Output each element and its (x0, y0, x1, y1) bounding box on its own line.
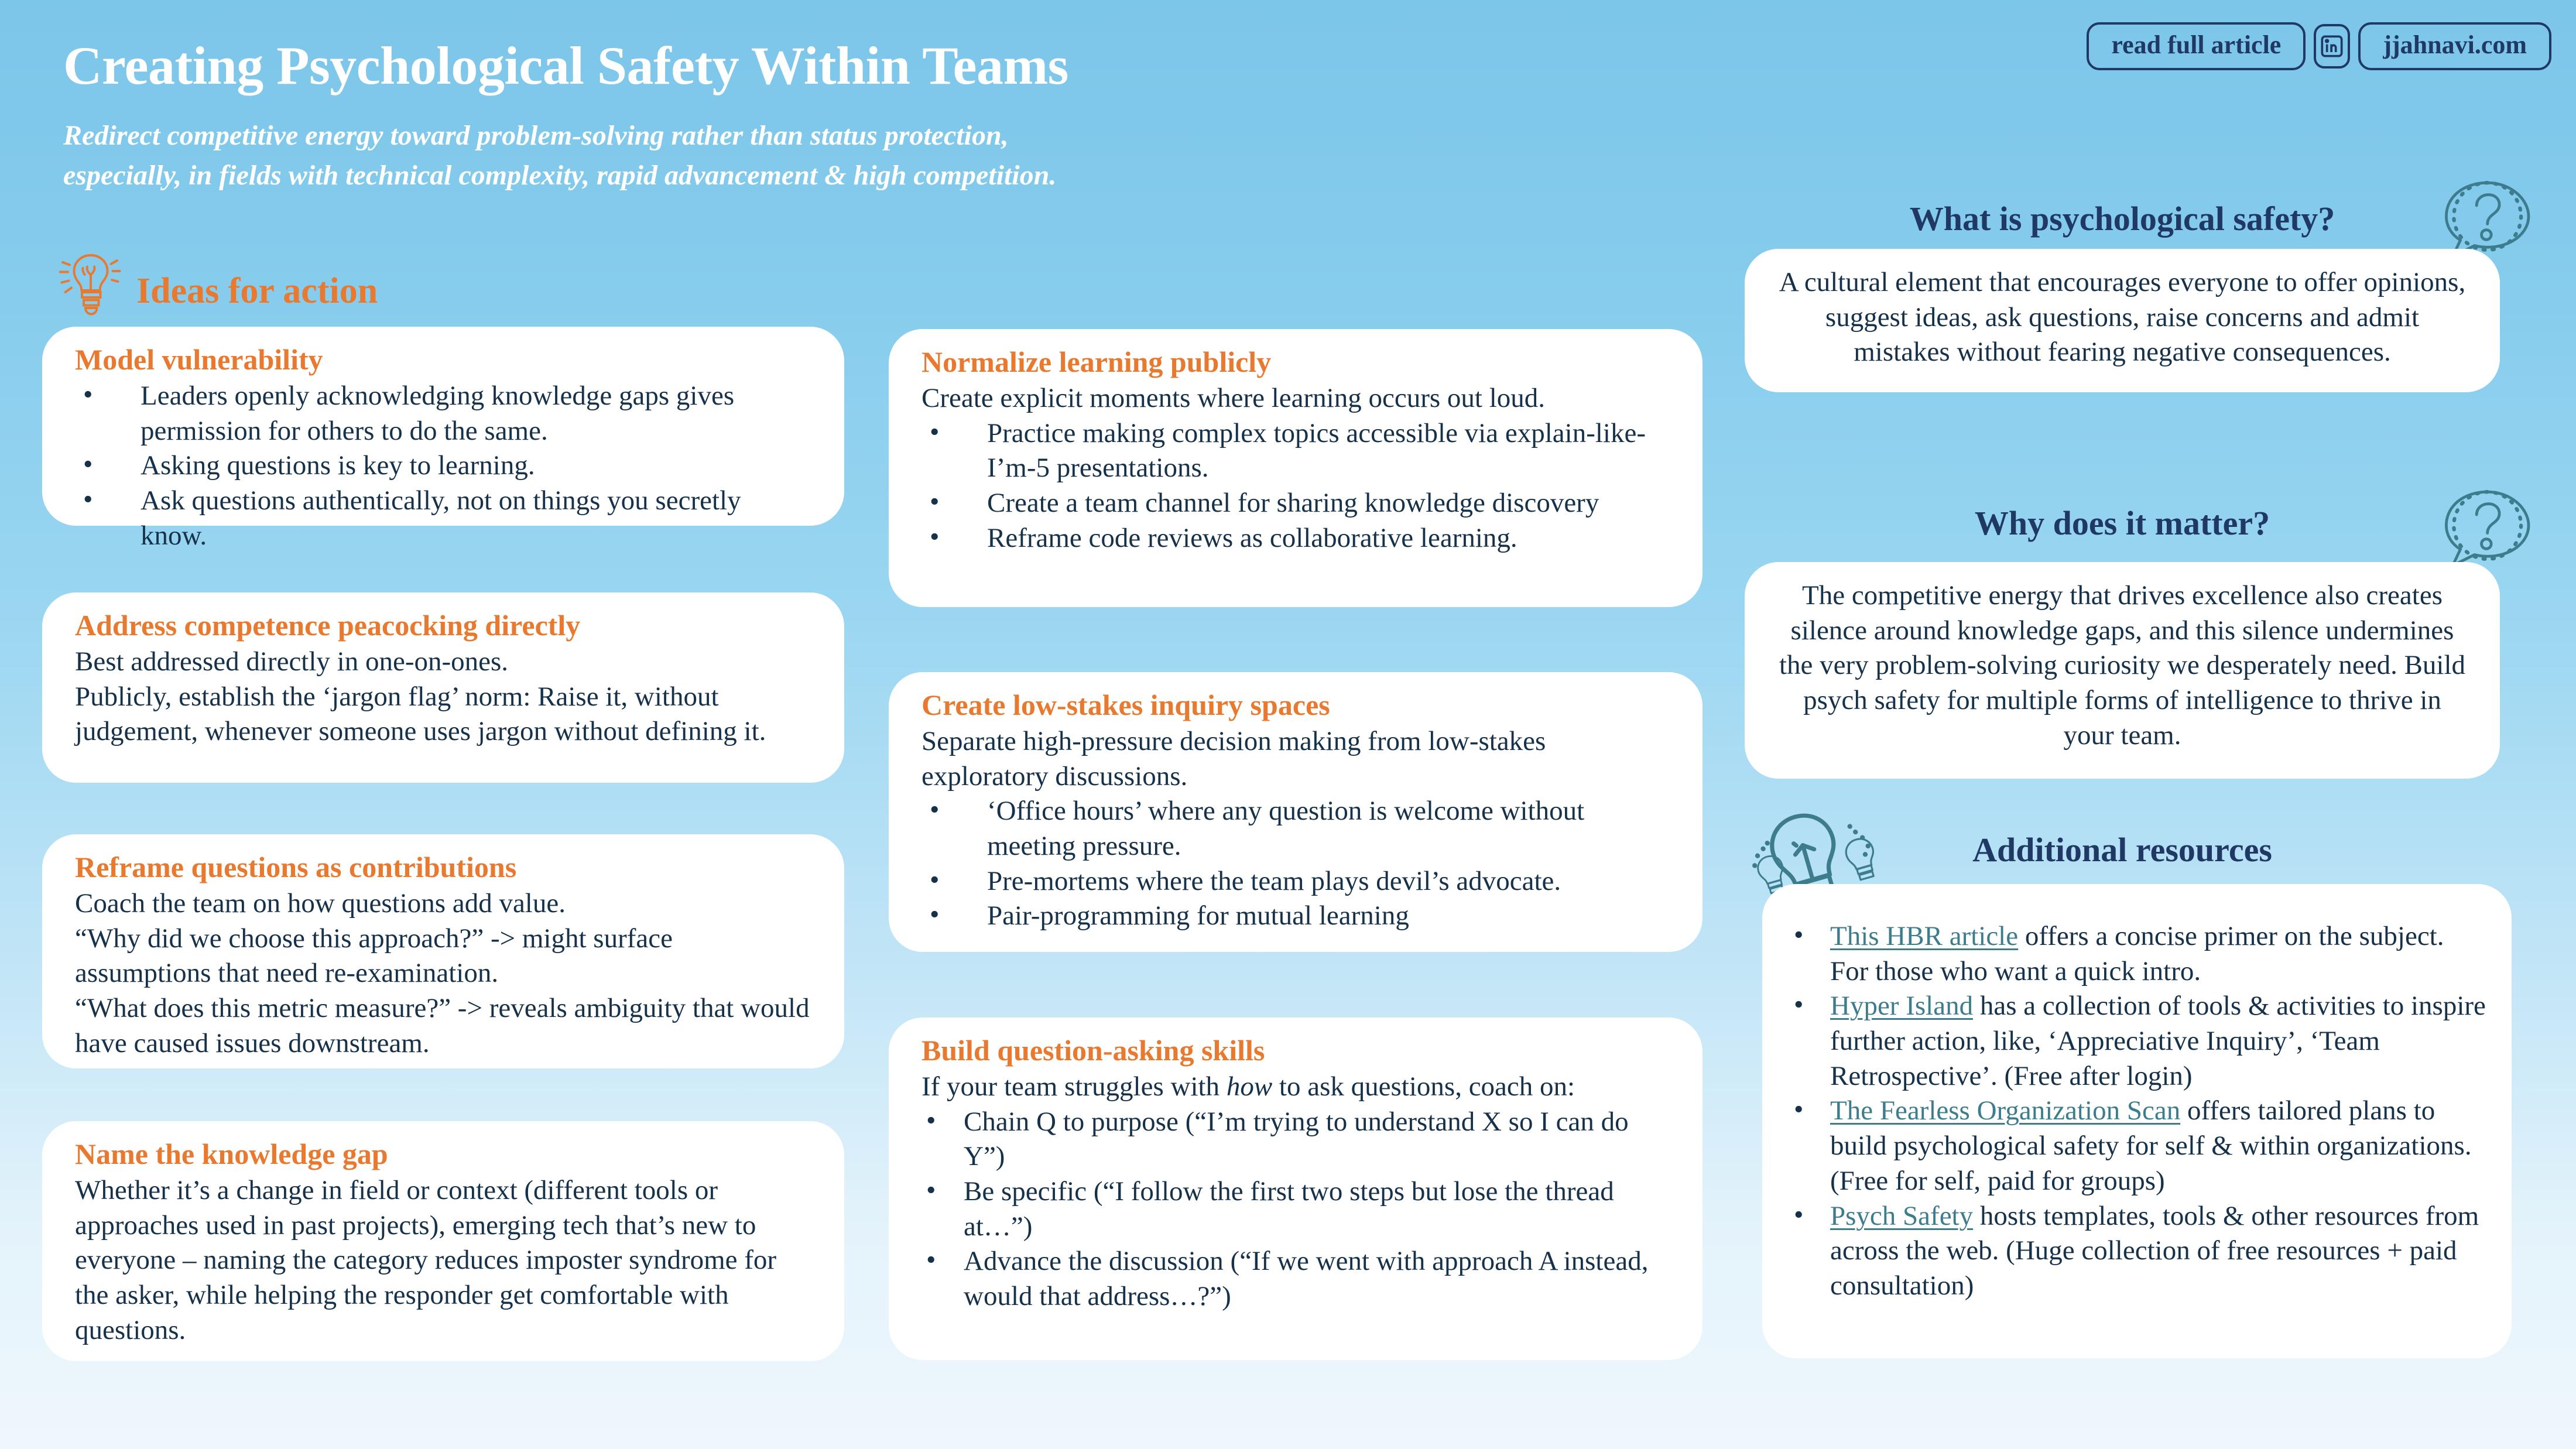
list-item: Hyper Island has a collection of tools &… (1788, 989, 2486, 1094)
card-paragraph: “Why did we choose this approach?” -> mi… (75, 922, 814, 991)
card-create-low-stakes-inquiry-spaces: Create low-stakes inquiry spaces Separat… (889, 672, 1703, 952)
why-does-it-matter-heading: Why does it matter? (1745, 503, 2500, 543)
subtitle-line-1: Redirect competitive energy toward probl… (63, 116, 1351, 156)
card-intro: Separate high-pressure decision making f… (922, 724, 1672, 794)
list-item: Advance the discussion (“If we went with… (922, 1244, 1672, 1314)
read-full-article-button[interactable]: read full article (2087, 22, 2306, 70)
card-paragraph: Whether it’s a change in field or contex… (75, 1173, 814, 1348)
list-item: Leaders openly acknowledging knowledge g… (75, 379, 814, 448)
list-item: The Fearless Organization Scan offers ta… (1788, 1094, 2486, 1198)
card-title: Build question-asking skills (922, 1033, 1672, 1068)
card-bullet-list: ‘Office hours’ where any question is wel… (922, 794, 1672, 934)
card-intro: If your team struggles with how to ask q… (922, 1070, 1672, 1105)
page-header: Creating Psychological Safety Within Tea… (0, 0, 2576, 222)
card-bullet-list: Chain Q to purpose (“I’m trying to under… (922, 1105, 1672, 1314)
card-bullet-list: Practice making complex topics accessibl… (922, 416, 1672, 556)
additional-resources-card: This HBR article offers a concise primer… (1762, 884, 2512, 1358)
list-item: Ask questions authentically, not on thin… (75, 484, 814, 553)
resource-link[interactable]: This HBR article (1830, 921, 2018, 951)
intro-italic: how (1227, 1071, 1272, 1102)
linkedin-icon[interactable] (2314, 24, 2350, 68)
intro-suffix: to ask questions, coach on: (1272, 1071, 1575, 1102)
list-item: Asking questions is key to learning. (75, 448, 814, 484)
card-title: Reframe questions as contributions (75, 849, 814, 885)
panel-body: A cultural element that encourages every… (1777, 265, 2467, 370)
resource-link[interactable]: Hyper Island (1830, 991, 1973, 1021)
card-intro: Create explicit moments where learning o… (922, 381, 1672, 416)
list-item: Create a team channel for sharing knowle… (922, 486, 1672, 521)
card-title: Normalize learning publicly (922, 344, 1672, 380)
additional-resources-heading: Additional resources (1745, 830, 2500, 869)
website-button[interactable]: jjahnavi.com (2358, 22, 2551, 70)
card-paragraph: “What does this metric measure?” -> reve… (75, 991, 814, 1061)
card-bullet-list: Leaders openly acknowledging knowledge g… (75, 379, 814, 553)
card-title: Create low-stakes inquiry spaces (922, 687, 1672, 723)
ideas-for-action-heading: Ideas for action (56, 243, 378, 334)
resources-list: This HBR article offers a concise primer… (1788, 919, 2486, 1304)
list-item: Chain Q to purpose (“I’m trying to under… (922, 1105, 1672, 1174)
lightbulb-icon (56, 243, 126, 334)
list-item: Pair-programming for mutual learning (922, 899, 1672, 934)
card-build-question-asking-skills: Build question-asking skills If your tea… (889, 1018, 1703, 1360)
card-address-competence-peacocking: Address competence peacocking directly B… (42, 592, 844, 783)
list-item: ‘Office hours’ where any question is wel… (922, 794, 1672, 864)
card-normalize-learning-publicly: Normalize learning publicly Create expli… (889, 329, 1703, 607)
card-title: Address competence peacocking directly (75, 608, 814, 643)
list-item: Reframe code reviews as collaborative le… (922, 521, 1672, 556)
list-item: Pre-mortems where the team plays devil’s… (922, 864, 1672, 899)
card-title: Name the knowledge gap (75, 1136, 814, 1172)
card-reframe-questions: Reframe questions as contributions Coach… (42, 834, 844, 1068)
what-is-psych-safety-card: A cultural element that encourages every… (1745, 249, 2500, 392)
card-paragraph: Publicly, establish the ‘jargon flag’ no… (75, 680, 814, 749)
page-subtitle: Redirect competitive energy toward probl… (63, 116, 1351, 196)
card-name-the-knowledge-gap: Name the knowledge gap Whether it’s a ch… (42, 1121, 844, 1361)
list-item: Psych Safety hosts templates, tools & ot… (1788, 1199, 2486, 1304)
subtitle-line-2: especially, in fields with technical com… (63, 156, 1351, 196)
card-model-vulnerability: Model vulnerability Leaders openly ackno… (42, 327, 844, 526)
list-item: Practice making complex topics accessibl… (922, 416, 1672, 486)
why-does-it-matter-card: The competitive energy that drives excel… (1745, 562, 2500, 779)
resource-link[interactable]: Psych Safety (1830, 1201, 1973, 1231)
intro-prefix: If your team struggles with (922, 1071, 1227, 1102)
list-item: Be specific (“I follow the first two ste… (922, 1174, 1672, 1244)
resource-link[interactable]: The Fearless Organization Scan (1830, 1095, 2180, 1126)
card-paragraph: Coach the team on how questions add valu… (75, 886, 814, 922)
page-title: Creating Psychological Safety Within Tea… (63, 39, 1068, 93)
list-item: This HBR article offers a concise primer… (1788, 919, 2486, 989)
card-title: Model vulnerability (75, 342, 814, 378)
panel-body: The competitive energy that drives excel… (1777, 578, 2467, 753)
ideas-for-action-label: Ideas for action (136, 270, 378, 312)
card-paragraph: Best addressed directly in one-on-ones. (75, 645, 814, 680)
header-link-group: read full article jjahnavi.com (2087, 22, 2551, 70)
what-is-psych-safety-heading: What is psychological safety? (1745, 199, 2500, 238)
